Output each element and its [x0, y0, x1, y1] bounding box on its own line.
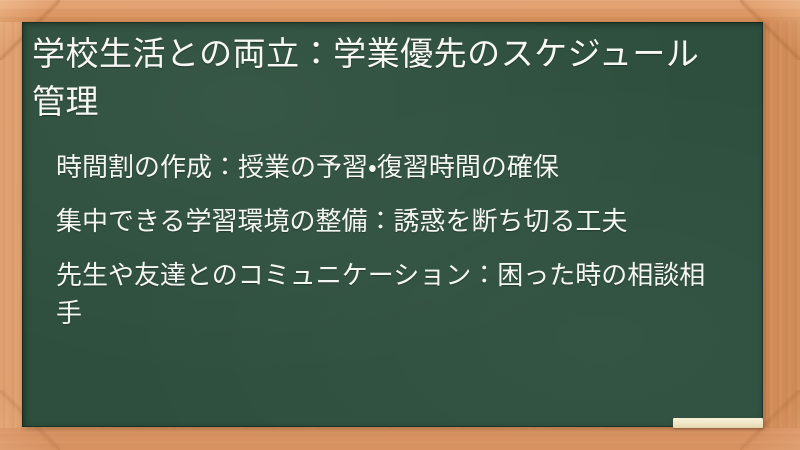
board-content: 学校生活との両立：学業優先のスケジュール管理 時間割の作成：授業の予習・復習時間… [22, 22, 763, 332]
bullet-item-2: 集中できる学習環境の整備：誘惑を断ち切る工夫 [56, 202, 728, 240]
chalkboard-surface: 学校生活との両立：学業優先のスケジュール管理 時間割の作成：授業の予習・復習時間… [22, 22, 763, 427]
wooden-frame-top-rail [0, 0, 800, 22]
slide-title: 学校生活との両立：学業優先のスケジュール管理 [32, 30, 722, 126]
chalk-eraser-icon [673, 418, 763, 428]
bullet-item-3: 先生や友達とのコミュニケーション：困った時の相談相手 [56, 256, 728, 332]
chalkboard-slide: 学校生活との両立：学業優先のスケジュール管理 時間割の作成：授業の予習・復習時間… [0, 0, 800, 450]
bullet-list: 時間割の作成：授業の予習・復習時間の確保 集中できる学習環境の整備：誘惑を断ち切… [32, 148, 743, 332]
wooden-frame-bottom-rail [0, 428, 800, 450]
bullet-item-1: 時間割の作成：授業の予習・復習時間の確保 [56, 148, 728, 186]
